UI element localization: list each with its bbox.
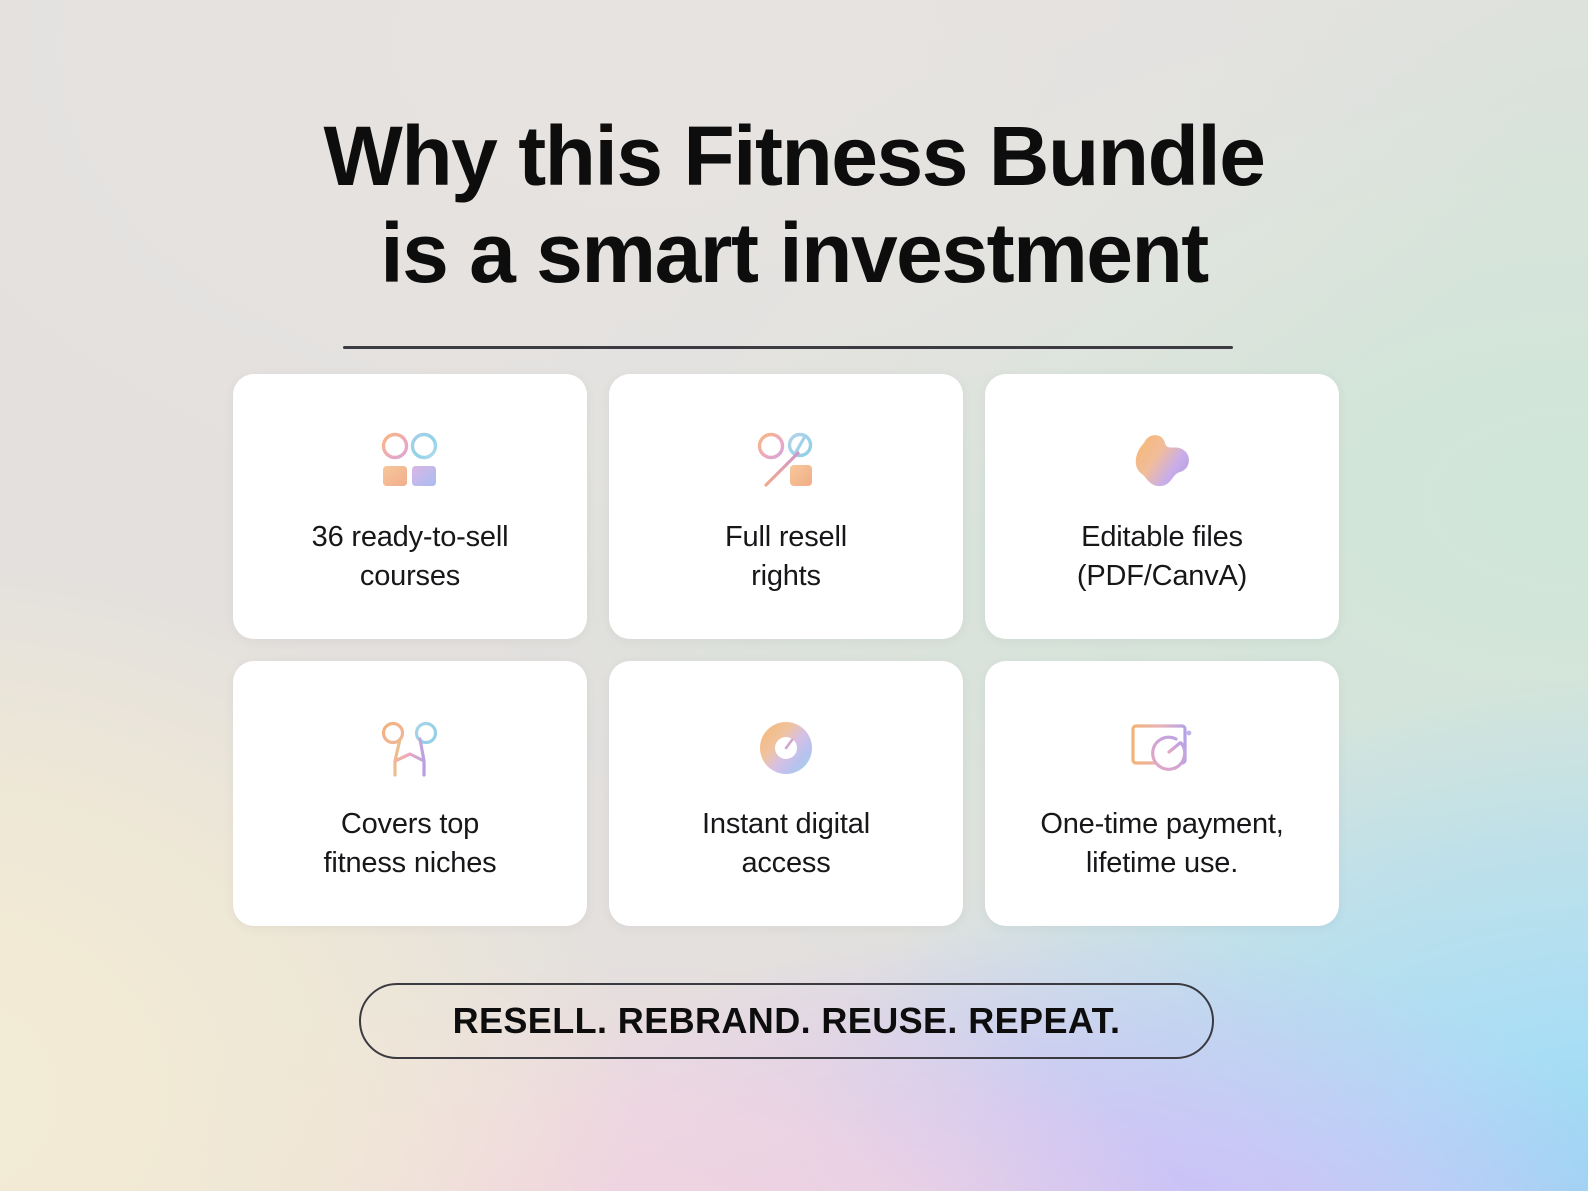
resell-rights-icon	[749, 426, 823, 496]
tagline-pill[interactable]: RESELL. REBRAND. REUSE. REPEAT.	[359, 983, 1214, 1059]
title-divider	[343, 346, 1233, 349]
feature-card-resell-rights[interactable]: Full resell rights	[609, 374, 963, 639]
feature-card-label: One-time payment, lifetime use.	[1024, 805, 1299, 882]
feature-card-fitness-niches[interactable]: Covers top fitness niches	[233, 661, 587, 926]
page-title-line-1: Why this Fitness Bundle	[0, 108, 1588, 205]
feature-card-instant-access[interactable]: Instant digital access	[609, 661, 963, 926]
feature-card-label: Instant digital access	[686, 805, 886, 882]
page-title: Why this Fitness Bundle is a smart inves…	[0, 108, 1588, 303]
feature-card-grid: 36 ready-to-sell courses	[233, 374, 1338, 926]
speed-dial-icon	[749, 713, 823, 783]
feature-card-label: Editable files (PDF/CanvA)	[1061, 518, 1263, 595]
poster-content: Why this Fitness Bundle is a smart inves…	[0, 0, 1588, 1191]
editable-blob-icon	[1125, 426, 1199, 496]
weightlifter-icon	[373, 713, 447, 783]
feature-card-label: 36 ready-to-sell courses	[296, 518, 525, 595]
feature-card-editable-files[interactable]: Editable files (PDF/CanvA)	[985, 374, 1339, 639]
feature-card-one-time-payment[interactable]: One-time payment, lifetime use.	[985, 661, 1339, 926]
one-time-payment-icon	[1125, 713, 1199, 783]
feature-card-courses[interactable]: 36 ready-to-sell courses	[233, 374, 587, 639]
feature-card-label: Covers top fitness niches	[308, 805, 513, 882]
courses-grid-icon	[373, 426, 447, 496]
page-title-line-2: is a smart investment	[0, 205, 1588, 302]
tagline-text: RESELL. REBRAND. REUSE. REPEAT.	[453, 1000, 1121, 1042]
feature-card-label: Full resell rights	[709, 518, 863, 595]
